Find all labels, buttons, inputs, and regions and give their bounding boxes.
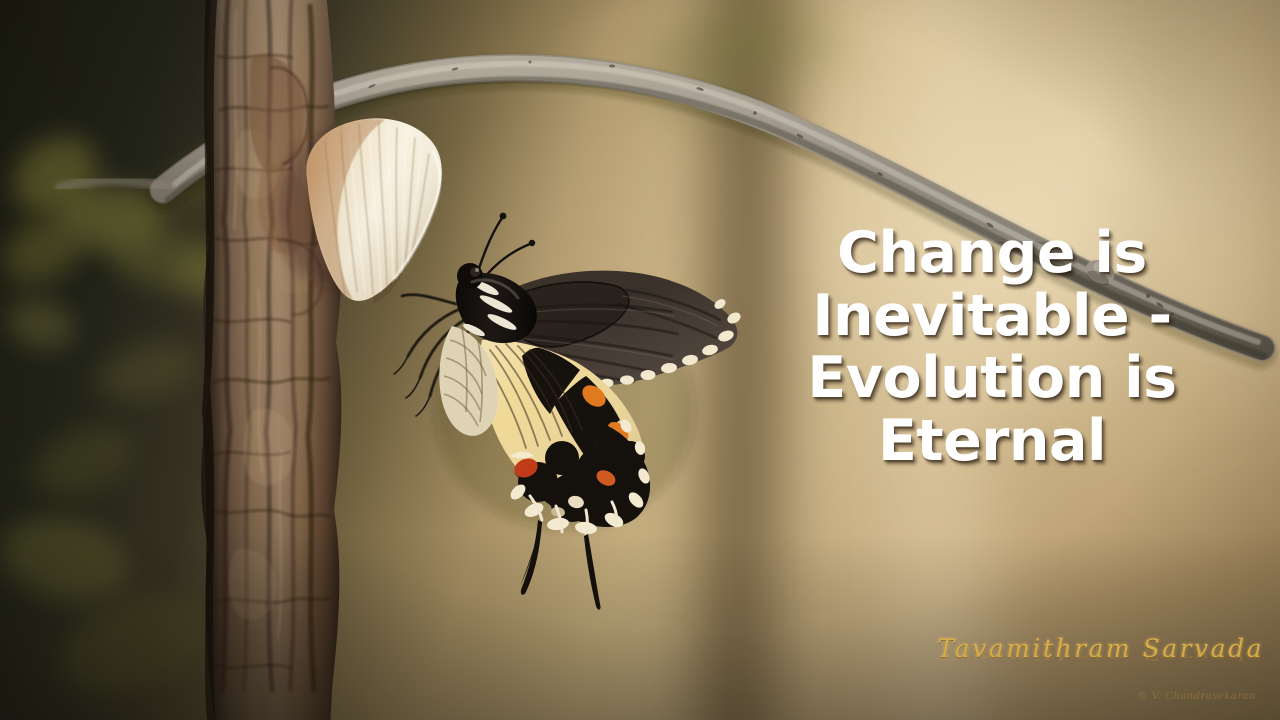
- watermark-reflection: Tavamithram Sarvada: [938, 648, 1264, 662]
- quote-line-2: Inevitable -: [742, 285, 1242, 348]
- quote-text: Change is Inevitable - Evolution is Eter…: [742, 222, 1242, 473]
- watermark-signature: © V. Chandrasekaran: [938, 691, 1256, 702]
- foliage-leaf: [22, 412, 143, 510]
- foliage-leaf: [0, 505, 138, 614]
- watermark: Tavamithram Sarvada Tavamithram Sarvada …: [938, 636, 1264, 702]
- butterfly: [390, 200, 750, 620]
- quote-line-3: Evolution is: [742, 347, 1242, 410]
- quote-line-1: Change is: [742, 222, 1242, 285]
- poster-canvas: Change is Inevitable - Evolution is Eter…: [0, 0, 1280, 720]
- quote-line-4: Eternal: [742, 410, 1242, 473]
